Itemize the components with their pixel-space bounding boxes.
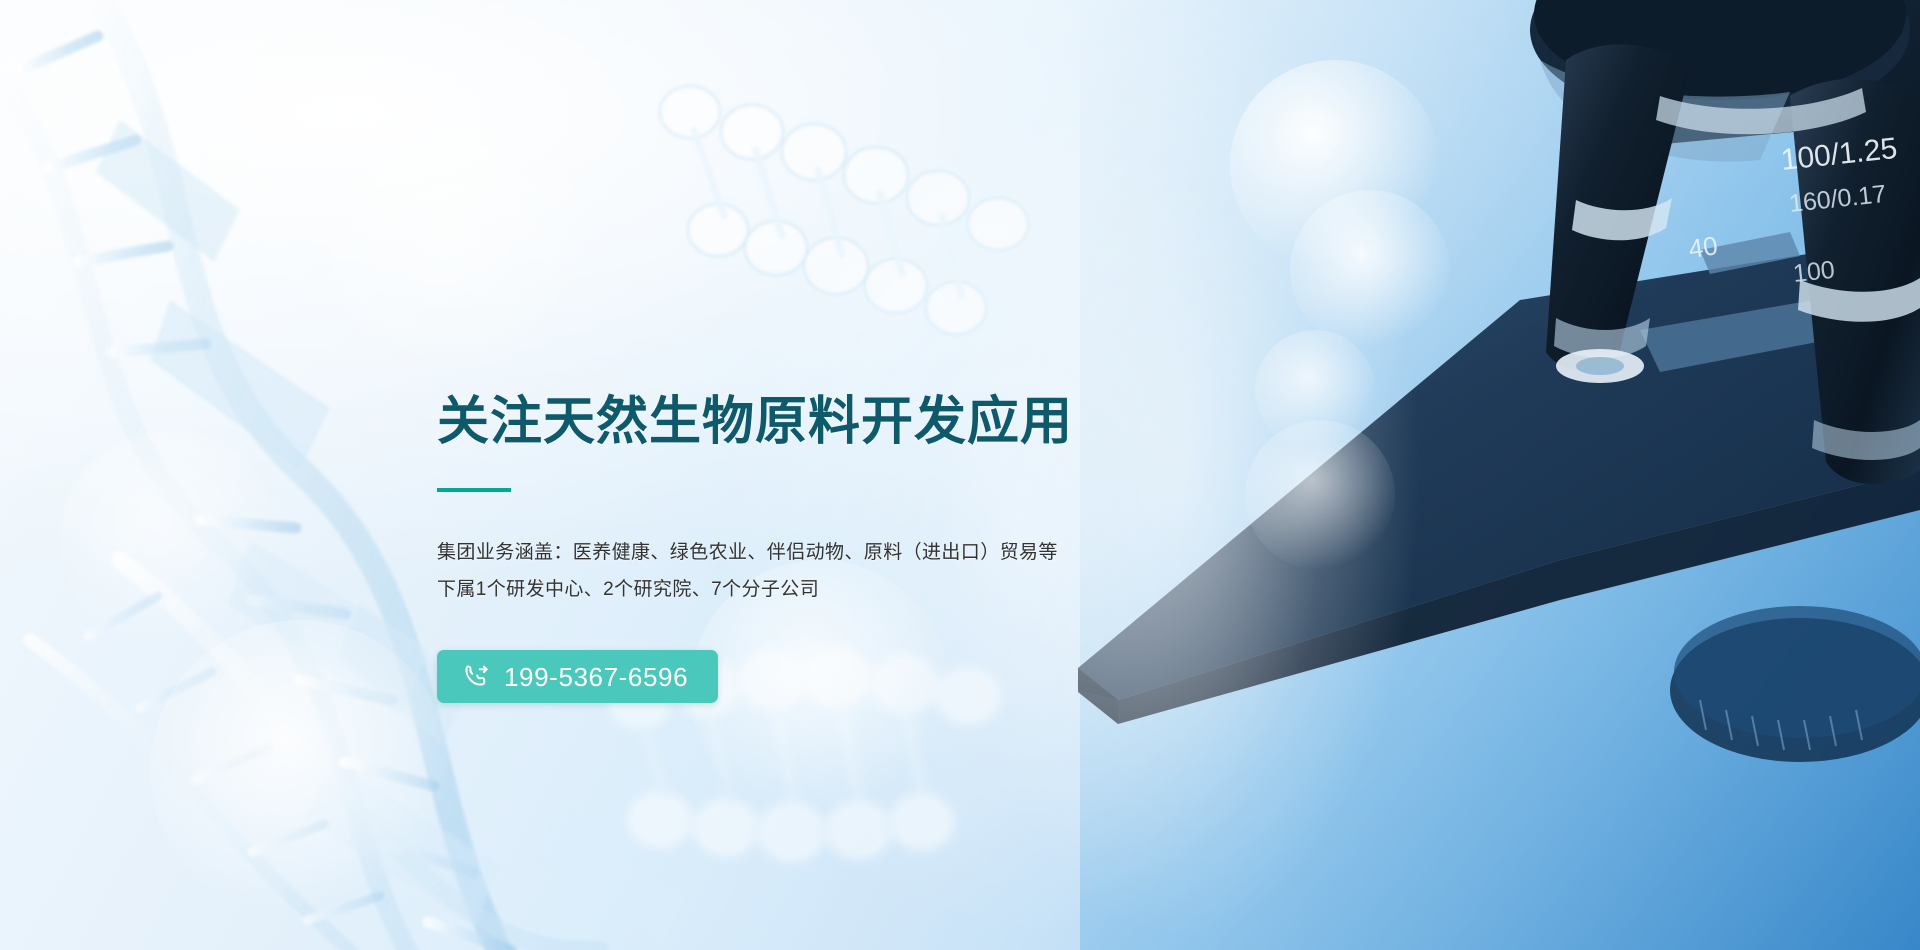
description-line: 集团业务涵盖：医养健康、绿色农业、伴侣动物、原料（进出口）贸易等 <box>437 534 1197 571</box>
svg-text:40: 40 <box>1687 230 1720 264</box>
description-line: 下属1个研发中心、2个研究院、7个分子公司 <box>437 571 1197 608</box>
svg-text:100: 100 <box>1792 256 1836 288</box>
phone-cta-button[interactable]: 199-5367-6596 <box>437 650 718 703</box>
hero-description: 集团业务涵盖：医养健康、绿色农业、伴侣动物、原料（进出口）贸易等 下属1个研发中… <box>437 534 1197 608</box>
page-title: 关注天然生物原料开发应用 <box>437 392 1197 453</box>
phone-number: 199-5367-6596 <box>504 664 688 690</box>
phone-forward-icon <box>463 663 490 690</box>
hero-banner: 40 100/1.25 160/0.17 100 关注天然生物原料开发应用 <box>0 0 1920 950</box>
hero-content: 关注天然生物原料开发应用 集团业务涵盖：医养健康、绿色农业、伴侣动物、原料（进出… <box>437 392 1197 703</box>
title-divider <box>437 488 511 492</box>
